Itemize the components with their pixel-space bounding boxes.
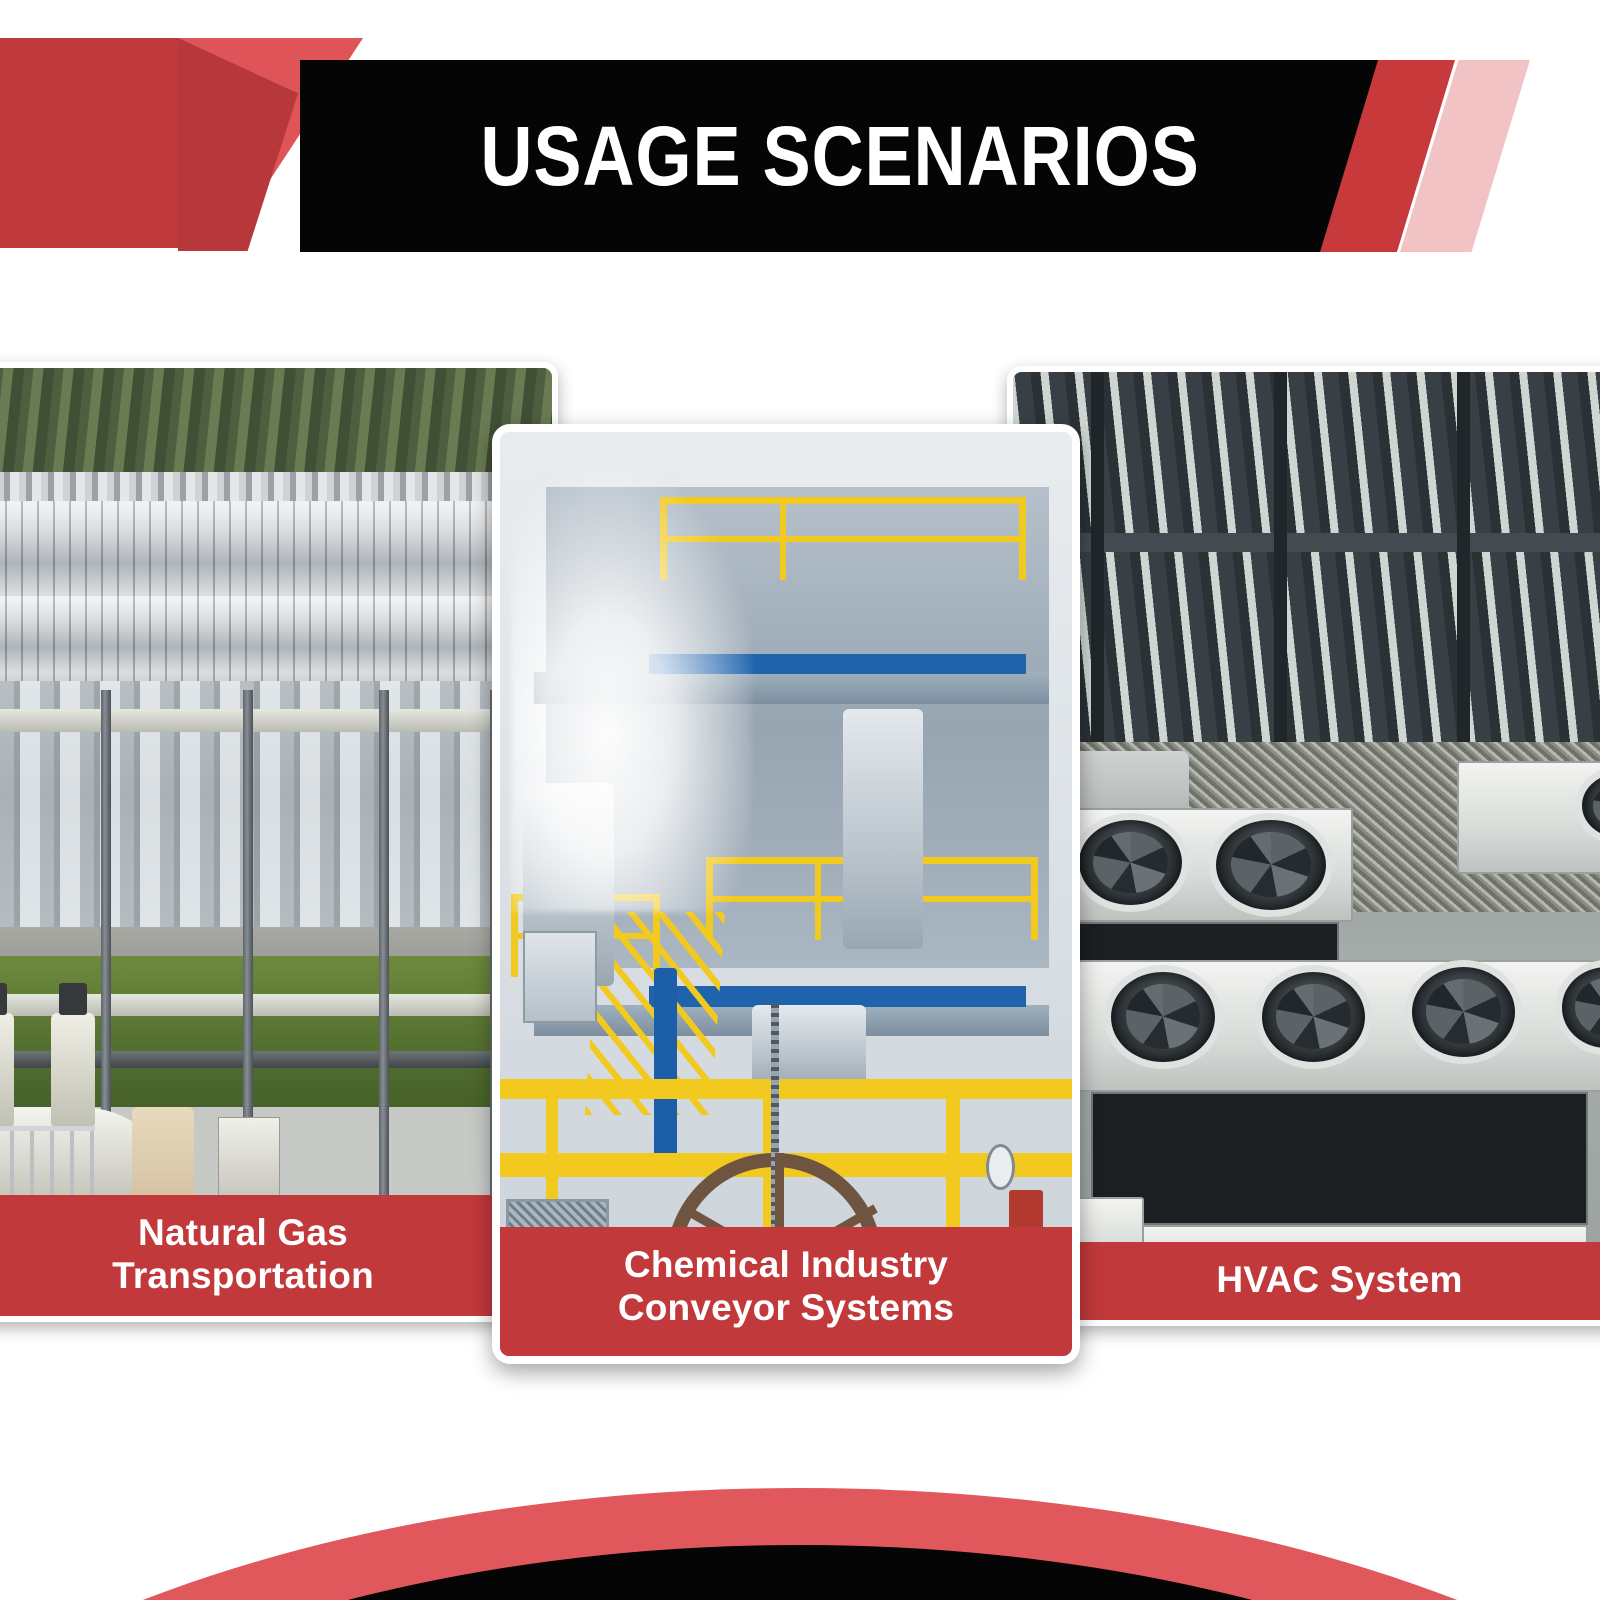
chiller-coil-b [1091, 1092, 1587, 1225]
column-vessel [843, 709, 923, 949]
pressure-gauge [986, 1144, 1015, 1190]
chiller-fan-1 [1072, 813, 1190, 913]
chemical-plant-conveyor-photo [500, 432, 1072, 1356]
chiller-fan-3 [1104, 965, 1222, 1069]
yellow-beam-1 [500, 1079, 1072, 1099]
facade-mullion-3 [1457, 372, 1470, 751]
card-chemical-industry-inner: Chemical Industry Conveyor Systems [500, 432, 1072, 1356]
facade-mullion-1 [1091, 372, 1104, 751]
card-hvac[interactable]: HVAC System [1007, 366, 1600, 1326]
card-chemical-industry[interactable]: Chemical Industry Conveyor Systems [492, 424, 1080, 1364]
caption-line-2: Conveyor Systems [510, 1286, 1062, 1330]
card-natural-gas-inner: Natural Gas Transportation [0, 368, 552, 1316]
steam-plume [511, 469, 751, 913]
page-title: USAGE SCENARIOS [376, 60, 1305, 252]
natural-gas-pipeline-plant-photo [0, 368, 552, 1316]
facade-mullion-2 [1274, 372, 1287, 751]
heat-exchanger [752, 1005, 866, 1088]
header-banner: USAGE SCENARIOS [0, 0, 1600, 290]
valve-assembly-1 [0, 1013, 14, 1127]
card-hvac-inner: HVAC System [1013, 372, 1600, 1320]
card-chemical-industry-caption: Chemical Industry Conveyor Systems [500, 1227, 1072, 1356]
poster-canvas: USAGE SCENARIOS [0, 0, 1600, 1600]
caption-line-1: Natural Gas [0, 1211, 542, 1255]
card-natural-gas[interactable]: Natural Gas Transportation [0, 362, 558, 1322]
card-hvac-caption: HVAC System [1013, 1242, 1600, 1320]
card-natural-gas-caption: Natural Gas Transportation [0, 1195, 552, 1316]
junction-box [523, 931, 597, 1023]
large-pipe-lower [0, 596, 552, 681]
large-pipe-upper [0, 501, 552, 605]
chiller-fan-2 [1209, 813, 1333, 917]
caption-line-1: Chemical Industry [510, 1243, 1062, 1287]
overhead-beam-1 [0, 709, 552, 732]
caption-line-2: Transportation [0, 1254, 542, 1298]
support-column-3 [379, 690, 389, 1211]
caption-line-1: HVAC System [1023, 1258, 1600, 1302]
chiller-fan-5 [1405, 960, 1523, 1064]
rooftop-hvac-chiller-photo [1013, 372, 1600, 1320]
blue-process-pipe [654, 968, 677, 1171]
control-cabinet [218, 1117, 280, 1202]
chiller-fan-4 [1255, 965, 1373, 1069]
valve-assembly-2 [51, 1013, 94, 1127]
